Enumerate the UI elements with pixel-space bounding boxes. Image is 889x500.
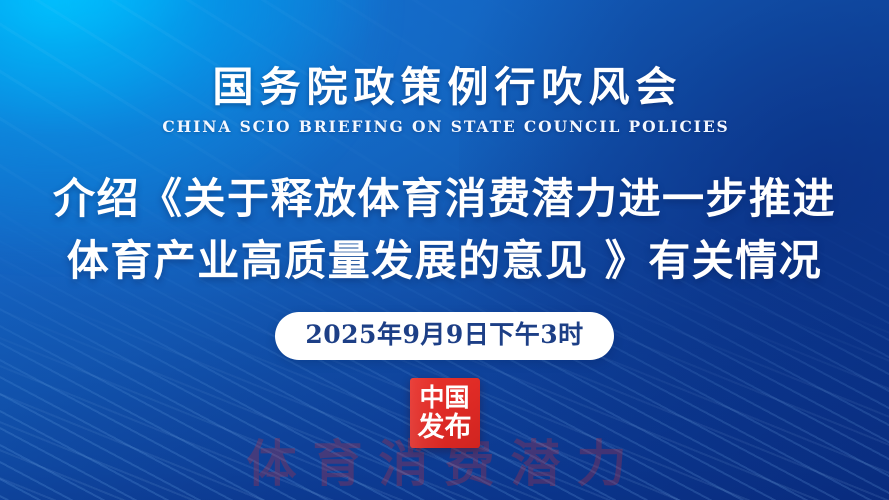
poster-content: 国务院政策例行吹风会 CHINA SCIO BRIEFING ON STATE … bbox=[0, 0, 889, 500]
briefing-poster: 体育消费潜力 国务院政策例行吹风会 CHINA SCIO BRIEFING ON… bbox=[0, 0, 889, 500]
logo-text-line-2: 发布 bbox=[410, 414, 480, 441]
date-badge-container: 2025年9月9日下午3时 bbox=[0, 312, 889, 360]
masthead-title-english: CHINA SCIO BRIEFING ON STATE COUNCIL POL… bbox=[0, 117, 889, 136]
masthead-title-chinese: 国务院政策例行吹风会 bbox=[0, 66, 889, 109]
headline-line-1: 介绍《关于释放体育消费潜力进一步推进 bbox=[0, 168, 889, 230]
logo-container: 中国 发布 bbox=[0, 378, 889, 448]
headline-line-2: 体育产业高质量发展的意见 》有关情况 bbox=[0, 230, 889, 292]
date-badge: 2025年9月9日下午3时 bbox=[275, 312, 613, 360]
masthead: 国务院政策例行吹风会 CHINA SCIO BRIEFING ON STATE … bbox=[0, 66, 889, 136]
china-release-logo: 中国 发布 bbox=[410, 378, 480, 448]
headline: 介绍《关于释放体育消费潜力进一步推进 体育产业高质量发展的意见 》有关情况 bbox=[0, 168, 889, 291]
logo-text-line-1: 中国 bbox=[410, 385, 480, 410]
